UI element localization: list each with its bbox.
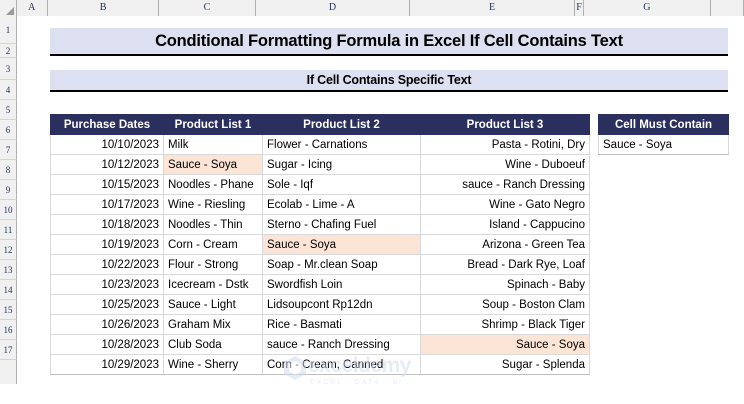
cell-purchase-date[interactable]: 10/29/2023 bbox=[51, 355, 164, 375]
table-row: 10/10/2023MilkFlower - CarnationsPasta -… bbox=[51, 135, 590, 155]
cell-product-list-3[interactable]: Spinach - Baby bbox=[421, 275, 590, 295]
row-header-5[interactable]: 5 bbox=[0, 100, 17, 120]
row-header-7[interactable]: 7 bbox=[0, 140, 17, 160]
cell-product-list-1[interactable]: Wine - Sherry bbox=[164, 355, 263, 375]
page-title: Conditional Formatting Formula in Excel … bbox=[50, 28, 728, 56]
cell-product-list-3[interactable]: Soup - Boston Clam bbox=[421, 295, 590, 315]
cell-product-list-3[interactable]: Wine - Gato Negro bbox=[421, 195, 590, 215]
row-header-strip: 1 2 3 4 5 6 7 8 9 10 11 12 13 14 15 16 1… bbox=[0, 16, 17, 384]
select-all-corner[interactable] bbox=[0, 0, 17, 16]
table-header-row: Purchase Dates Product List 1 Product Li… bbox=[51, 115, 590, 135]
row-header-13[interactable]: 13 bbox=[0, 260, 17, 280]
row-header-15[interactable]: 15 bbox=[0, 300, 17, 320]
column-header-b[interactable]: B bbox=[48, 0, 159, 16]
cell-product-list-1[interactable]: Icecream - Dstk bbox=[164, 275, 263, 295]
main-data-table: Purchase Dates Product List 1 Product Li… bbox=[50, 114, 590, 375]
column-header-cell-must-contain[interactable]: Cell Must Contain bbox=[599, 115, 729, 135]
column-header-c[interactable]: C bbox=[159, 0, 256, 16]
cell-purchase-date[interactable]: 10/22/2023 bbox=[51, 255, 164, 275]
table-row: 10/17/2023Wine - RieslingEcolab - Lime -… bbox=[51, 195, 590, 215]
column-header-g[interactable]: G bbox=[584, 0, 711, 16]
cell-product-list-3-highlighted[interactable]: Sauce - Soya bbox=[421, 335, 590, 355]
column-header-a[interactable]: A bbox=[17, 0, 48, 16]
section-subtitle: If Cell Contains Specific Text bbox=[50, 70, 728, 92]
column-header-purchase-dates[interactable]: Purchase Dates bbox=[51, 115, 164, 135]
column-header-product-list-1[interactable]: Product List 1 bbox=[164, 115, 263, 135]
cell-product-list-3[interactable]: Sugar - Splenda bbox=[421, 355, 590, 375]
row-header-2[interactable]: 2 bbox=[0, 44, 17, 58]
cell-product-list-3[interactable]: Arizona - Green Tea bbox=[421, 235, 590, 255]
column-header-product-list-2[interactable]: Product List 2 bbox=[263, 115, 421, 135]
column-header-d[interactable]: D bbox=[256, 0, 410, 16]
row-header-12[interactable]: 12 bbox=[0, 240, 17, 260]
cell-purchase-date[interactable]: 10/17/2023 bbox=[51, 195, 164, 215]
row-header-3[interactable]: 3 bbox=[0, 58, 17, 80]
cell-product-list-1-highlighted[interactable]: Sauce - Soya bbox=[164, 155, 263, 175]
row-header-17[interactable]: 17 bbox=[0, 340, 17, 360]
cell-product-list-1[interactable]: Graham Mix bbox=[164, 315, 263, 335]
column-header-strip: A B C D E F G bbox=[0, 0, 744, 16]
cell-product-list-2[interactable]: Soap - Mr.clean Soap bbox=[263, 255, 421, 275]
spreadsheet-canvas: A B C D E F G 1 2 3 4 5 6 7 8 9 10 11 12… bbox=[0, 0, 744, 404]
row-header-4[interactable]: 4 bbox=[0, 80, 17, 100]
table-row: 10/26/2023Graham MixRice - BasmatiShrimp… bbox=[51, 315, 590, 335]
row-header-16[interactable]: 16 bbox=[0, 320, 17, 340]
row-header-10[interactable]: 10 bbox=[0, 200, 17, 220]
cell-product-list-1[interactable]: Club Soda bbox=[164, 335, 263, 355]
table-row: 10/28/2023Club Sodasauce - Ranch Dressin… bbox=[51, 335, 590, 355]
cell-purchase-date[interactable]: 10/18/2023 bbox=[51, 215, 164, 235]
cell-product-list-3[interactable]: Bread - Dark Rye, Loaf bbox=[421, 255, 590, 275]
criteria-header-row: Cell Must Contain bbox=[599, 115, 729, 135]
table-row: 10/12/2023Sauce - SoyaSugar - IcingWine … bbox=[51, 155, 590, 175]
row-header-11[interactable]: 11 bbox=[0, 220, 17, 240]
table-row: 10/19/2023Corn - CreamSauce - SoyaArizon… bbox=[51, 235, 590, 255]
cell-product-list-3[interactable]: sauce - Ranch Dressing bbox=[421, 175, 590, 195]
row-header-blank bbox=[0, 360, 17, 384]
table-row: 10/25/2023Sauce - LightLidsoupcont Rp12d… bbox=[51, 295, 590, 315]
row-header-14[interactable]: 14 bbox=[0, 280, 17, 300]
cell-product-list-1[interactable]: Flour - Strong bbox=[164, 255, 263, 275]
table-row: 10/29/2023Wine - SherryCorn - Cream, Can… bbox=[51, 355, 590, 375]
table-row: 10/23/2023Icecream - DstkSwordfish LoinS… bbox=[51, 275, 590, 295]
cell-product-list-1[interactable]: Noodles - Phane bbox=[164, 175, 263, 195]
cell-purchase-date[interactable]: 10/12/2023 bbox=[51, 155, 164, 175]
cell-purchase-date[interactable]: 10/26/2023 bbox=[51, 315, 164, 335]
column-header-e[interactable]: E bbox=[410, 0, 575, 16]
select-all-triangle-icon bbox=[6, 7, 14, 15]
column-header-product-list-3[interactable]: Product List 3 bbox=[421, 115, 590, 135]
cell-purchase-date[interactable]: 10/23/2023 bbox=[51, 275, 164, 295]
column-header-overflow[interactable] bbox=[711, 0, 744, 16]
cell-purchase-date[interactable]: 10/25/2023 bbox=[51, 295, 164, 315]
watermark-subtext: EXCEL · DATA · BI bbox=[310, 379, 403, 386]
cell-product-list-3[interactable]: Wine - Duboeuf bbox=[421, 155, 590, 175]
cell-product-list-2[interactable]: sauce - Ranch Dressing bbox=[263, 335, 421, 355]
cell-product-list-3[interactable]: Island - Cappucino bbox=[421, 215, 590, 235]
cell-product-list-1[interactable]: Wine - Riesling bbox=[164, 195, 263, 215]
cell-product-list-2[interactable]: Ecolab - Lime - A bbox=[263, 195, 421, 215]
cell-product-list-3[interactable]: Pasta - Rotini, Dry bbox=[421, 135, 590, 155]
cell-product-list-1[interactable]: Milk bbox=[164, 135, 263, 155]
cell-product-list-1[interactable]: Corn - Cream bbox=[164, 235, 263, 255]
table-row: 10/22/2023Flour - StrongSoap - Mr.clean … bbox=[51, 255, 590, 275]
criteria-row: Sauce - Soya bbox=[599, 135, 729, 155]
table-row: 10/18/2023Noodles - ThinSterno - Chafing… bbox=[51, 215, 590, 235]
cell-product-list-2-highlighted[interactable]: Sauce - Soya bbox=[263, 235, 421, 255]
row-header-9[interactable]: 9 bbox=[0, 180, 17, 200]
cell-purchase-date[interactable]: 10/10/2023 bbox=[51, 135, 164, 155]
cell-product-list-2[interactable]: Sterno - Chafing Fuel bbox=[263, 215, 421, 235]
cell-purchase-date[interactable]: 10/28/2023 bbox=[51, 335, 164, 355]
column-header-f[interactable]: F bbox=[575, 0, 584, 16]
cell-product-list-2[interactable]: Sole - Iqf bbox=[263, 175, 421, 195]
cell-product-list-2[interactable]: Flower - Carnations bbox=[263, 135, 421, 155]
cell-product-list-2[interactable]: Lidsoupcont Rp12dn bbox=[263, 295, 421, 315]
cell-product-list-1[interactable]: Sauce - Light bbox=[164, 295, 263, 315]
table-row: 10/15/2023Noodles - PhaneSole - Iqfsauce… bbox=[51, 175, 590, 195]
cell-product-list-2[interactable]: Sugar - Icing bbox=[263, 155, 421, 175]
cell-product-list-2[interactable]: Swordfish Loin bbox=[263, 275, 421, 295]
cell-product-list-2[interactable]: Corn - Cream, Canned bbox=[263, 355, 421, 375]
row-header-6[interactable]: 6 bbox=[0, 120, 17, 140]
row-header-1[interactable]: 1 bbox=[0, 16, 17, 44]
cell-purchase-date[interactable]: 10/19/2023 bbox=[51, 235, 164, 255]
cell-product-list-1[interactable]: Noodles - Thin bbox=[164, 215, 263, 235]
criteria-table: Cell Must Contain Sauce - Soya bbox=[598, 114, 729, 155]
criteria-value-cell[interactable]: Sauce - Soya bbox=[599, 135, 729, 155]
cell-purchase-date[interactable]: 10/15/2023 bbox=[51, 175, 164, 195]
cell-product-list-3[interactable]: Shrimp - Black Tiger bbox=[421, 315, 590, 335]
cell-product-list-2[interactable]: Rice - Basmati bbox=[263, 315, 421, 335]
row-header-8[interactable]: 8 bbox=[0, 160, 17, 180]
